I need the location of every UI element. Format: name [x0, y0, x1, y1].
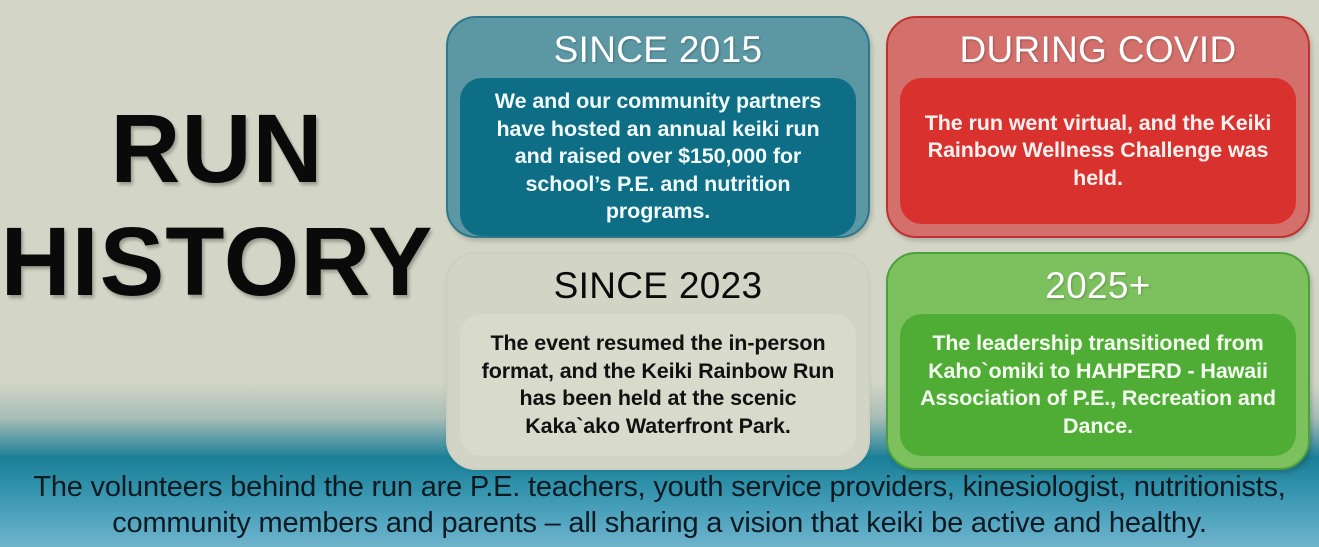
card-text-during-covid: The run went virtual, and the Keiki Rain…: [918, 110, 1278, 193]
slide-canvas: RUN HISTORY SINCE 2015 We and our commun…: [0, 0, 1319, 547]
card-body-2025-plus: The leadership transitioned from Kaho`om…: [900, 314, 1296, 456]
page-title-line-2: HISTORY: [0, 205, 434, 318]
page-title: RUN HISTORY: [0, 92, 434, 318]
card-body-since-2023: The event resumed the in-person format, …: [460, 314, 856, 456]
card-heading-since-2015: SINCE 2015: [460, 24, 856, 78]
card-heading-2025-plus: 2025+: [900, 260, 1296, 314]
card-body-since-2015: We and our community partners have hoste…: [460, 78, 856, 236]
page-title-line-1: RUN: [0, 92, 434, 205]
card-heading-during-covid: DURING COVID: [900, 24, 1296, 78]
card-since-2023[interactable]: SINCE 2023 The event resumed the in-pers…: [446, 252, 870, 470]
card-since-2015[interactable]: SINCE 2015 We and our community partners…: [446, 16, 870, 238]
card-text-since-2023: The event resumed the in-person format, …: [478, 330, 838, 440]
card-text-2025-plus: The leadership transitioned from Kaho`om…: [918, 330, 1278, 440]
card-during-covid[interactable]: DURING COVID The run went virtual, and t…: [886, 16, 1310, 238]
card-2025-plus[interactable]: 2025+ The leadership transitioned from K…: [886, 252, 1310, 470]
card-heading-since-2023: SINCE 2023: [460, 260, 856, 314]
card-text-since-2015: We and our community partners have hoste…: [478, 88, 838, 226]
card-body-during-covid: The run went virtual, and the Keiki Rain…: [900, 78, 1296, 224]
footer-caption: The volunteers behind the run are P.E. t…: [0, 469, 1319, 541]
